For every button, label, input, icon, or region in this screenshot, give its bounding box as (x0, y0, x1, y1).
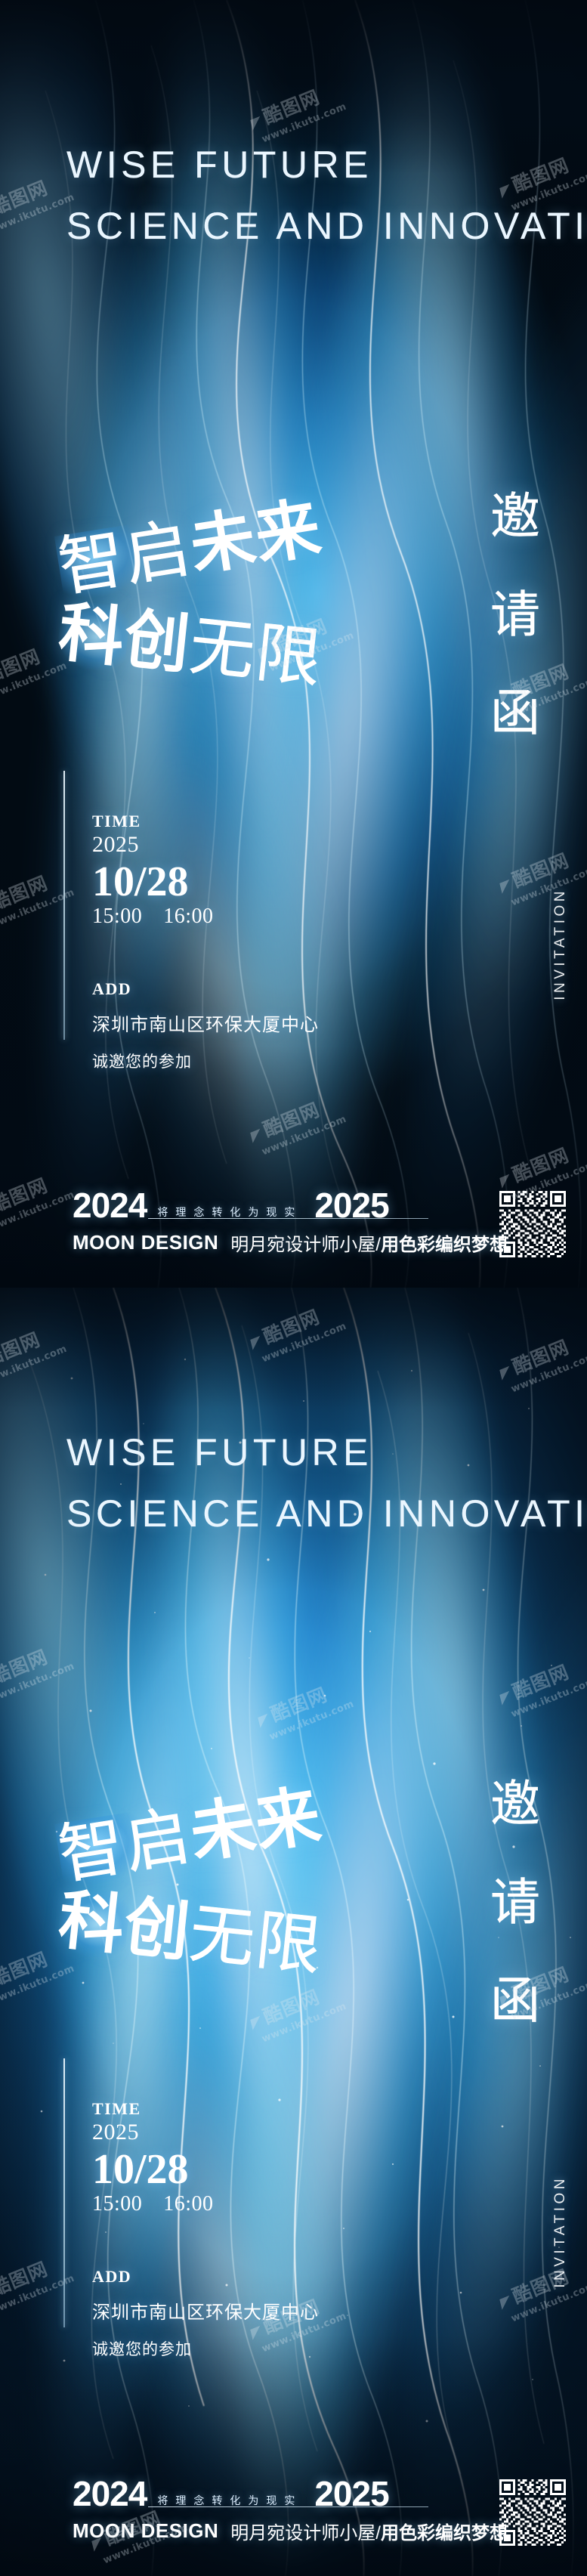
vertical-divider-line (63, 2058, 65, 2327)
vertical-invitation-title: 邀 请 函 (490, 491, 540, 738)
poster-variant-bright: WISE FUTURE SCIENCE AND INNOVATION 智启未来 … (0, 1288, 587, 2576)
footer-brand-en: MOON DESIGN (73, 1231, 218, 1254)
vertical-english-invitation: INVITATION (552, 888, 569, 1000)
chinese-heading-kechuang: 科创 (55, 595, 193, 682)
chinese-heading-zhiqi: 智启 (54, 1799, 196, 1891)
vertical-char-yao: 邀 (490, 1779, 540, 1829)
vertical-char-yao: 邀 (490, 491, 540, 541)
vertical-char-han: 函 (490, 1975, 540, 2025)
chinese-heading-row1: 智启未来 (54, 522, 153, 601)
time-range: 15:0016:00 (92, 2192, 214, 2216)
poster-stack: WISE FUTURE SCIENCE AND INNOVATION 智启未来 … (0, 0, 587, 2576)
english-heading: WISE FUTURE SCIENCE AND INNOVATION (66, 135, 587, 257)
address-details: ADD 深圳市南山区环保大厦中心 诚邀您的参加 (92, 2267, 319, 2360)
time-label: TIME (92, 2100, 214, 2119)
vertical-char-han: 函 (490, 688, 540, 738)
footer-brand-cn-bold: 用色彩编织梦想 (381, 2523, 508, 2544)
poster-content: WISE FUTURE SCIENCE AND INNOVATION 智启未来 … (0, 0, 587, 1288)
chinese-heading-row1: 智启未来 (54, 1810, 153, 1889)
footer-tagline: 将理念转化为现实 (147, 2493, 310, 2511)
qr-code[interactable] (499, 2479, 566, 2546)
time-label: TIME (92, 812, 214, 831)
footer-divider-rule (148, 2506, 428, 2507)
english-heading-line2: SCIENCE AND INNOVATION (66, 196, 587, 257)
footer-bottom-row: MOON DESIGN 明月宛设计师小屋/用色彩编织梦想 (73, 1226, 564, 1259)
chinese-heading-kechuang: 科创 (55, 1883, 193, 1969)
footer-tagline: 将理念转化为现实 (147, 1205, 310, 1223)
footer-brand-cn-plain: 明月宛设计师小屋/ (230, 1235, 381, 1255)
footer-top-row: 2024 将理念转化为现实 2025 (73, 2473, 564, 2511)
address-line2: 诚邀您的参加 (92, 2337, 319, 2360)
time-end: 16:00 (163, 2192, 213, 2216)
footer-brand-cn: 明月宛设计师小屋/用色彩编织梦想 (230, 2518, 508, 2544)
footer-year-left: 2024 (73, 2478, 147, 2511)
time-year: 2025 (92, 2119, 214, 2145)
address-line2: 诚邀您的参加 (92, 1050, 319, 1072)
poster-content: WISE FUTURE SCIENCE AND INNOVATION 智启未来 … (0, 1288, 587, 2576)
time-range: 15:0016:00 (92, 905, 214, 929)
chinese-heading-zhiqi: 智启 (54, 512, 196, 604)
english-heading-line1: WISE FUTURE (66, 1431, 372, 1474)
footer-top-row: 2024 将理念转化为现实 2025 (73, 1185, 564, 1223)
footer-brand-cn-bold: 用色彩编织梦想 (381, 1235, 508, 1255)
footer-divider-rule (148, 1218, 428, 1219)
time-end: 16:00 (163, 905, 213, 928)
vertical-divider-line (63, 771, 65, 1040)
chinese-heading-wuxian: 无限 (186, 609, 326, 695)
address-details: ADD 深圳市南山区环保大厦中心 诚邀您的参加 (92, 979, 319, 1072)
time-year: 2025 (92, 831, 214, 858)
time-date: 10/28 (92, 2148, 214, 2191)
qr-code[interactable] (499, 1191, 566, 1257)
chinese-heading-row2: 科创无限 (56, 1887, 131, 1960)
chinese-heading: 智启未来 科创无限 (59, 529, 323, 669)
english-heading-line1: WISE FUTURE (66, 144, 372, 186)
time-start: 15:00 (92, 905, 142, 928)
footer-brand-en: MOON DESIGN (73, 2519, 218, 2543)
time-start: 15:00 (92, 2192, 142, 2216)
address-line1: 深圳市南山区环保大厦中心 (92, 1010, 319, 1036)
footer-brand-cn: 明月宛设计师小屋/用色彩编织梦想 (230, 1229, 508, 1256)
vertical-invitation-title: 邀 请 函 (490, 1779, 540, 2025)
footer-brand-cn-plain: 明月宛设计师小屋/ (230, 2523, 381, 2544)
time-details: TIME 2025 10/28 15:0016:00 (92, 2100, 214, 2216)
chinese-heading-weilai: 未来 (185, 1779, 326, 1871)
time-date: 10/28 (92, 861, 214, 903)
vertical-english-invitation: INVITATION (552, 2176, 569, 2288)
footer-year-left: 2024 (73, 1189, 147, 1223)
address-line1: 深圳市南山区环保大厦中心 (92, 2297, 319, 2324)
footer-bottom-row: MOON DESIGN 明月宛设计师小屋/用色彩编织梦想 (73, 2514, 564, 2547)
address-label: ADD (92, 2267, 319, 2287)
poster-variant-dark: WISE FUTURE SCIENCE AND INNOVATION 智启未来 … (0, 0, 587, 1288)
english-heading: WISE FUTURE SCIENCE AND INNOVATION (66, 1422, 587, 1545)
time-details: TIME 2025 10/28 15:0016:00 (92, 812, 214, 929)
chinese-heading-row2: 科创无限 (56, 599, 131, 673)
address-label: ADD (92, 979, 319, 999)
vertical-char-qing: 请 (490, 1877, 540, 1927)
chinese-heading-wuxian: 无限 (186, 1897, 326, 1983)
english-heading-line2: SCIENCE AND INNOVATION (66, 1483, 587, 1545)
chinese-heading: 智启未来 科创无限 (59, 1817, 323, 1956)
vertical-char-qing: 请 (490, 589, 540, 639)
chinese-heading-weilai: 未来 (185, 491, 326, 583)
